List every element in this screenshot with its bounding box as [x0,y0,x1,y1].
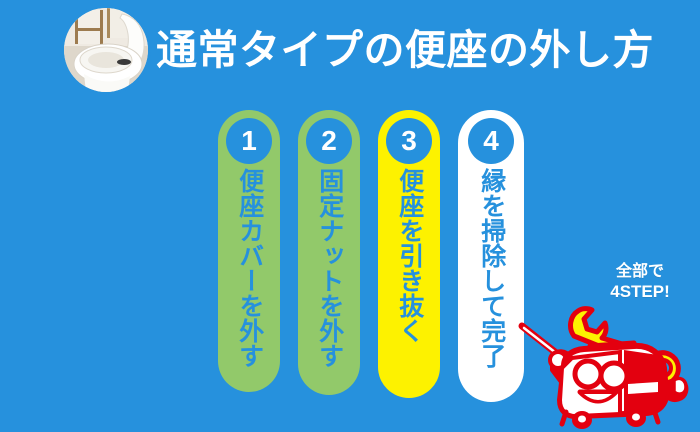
step-label-1: 便座カバーを外す [218,168,280,384]
step-card-1[interactable]: 1 便座カバーを外す [218,110,280,392]
step-card-4[interactable]: 4 縁を掃除して完了 [458,110,524,402]
red-van-character-icon [516,288,700,432]
badge-line-1: 全部で [592,262,688,282]
step-card-2[interactable]: 2 固定ナットを外す [298,110,360,395]
step-number-1: 1 [226,118,272,164]
step-number-2: 2 [306,118,352,164]
step-number-4: 4 [468,118,514,164]
infographic-canvas: 通常タイプの便座の外し方 1 便座カバーを外す 2 固定ナットを外す 3 便座を… [0,0,700,432]
step-label-4: 縁を掃除して完了 [458,168,524,394]
step-label-3: 便座を引き抜く [378,168,440,390]
step-card-3[interactable]: 3 便座を引き抜く [378,110,440,398]
mascot-character [516,288,700,432]
step-number-3: 3 [386,118,432,164]
step-label-2: 固定ナットを外す [298,168,360,387]
van-body [560,343,666,416]
